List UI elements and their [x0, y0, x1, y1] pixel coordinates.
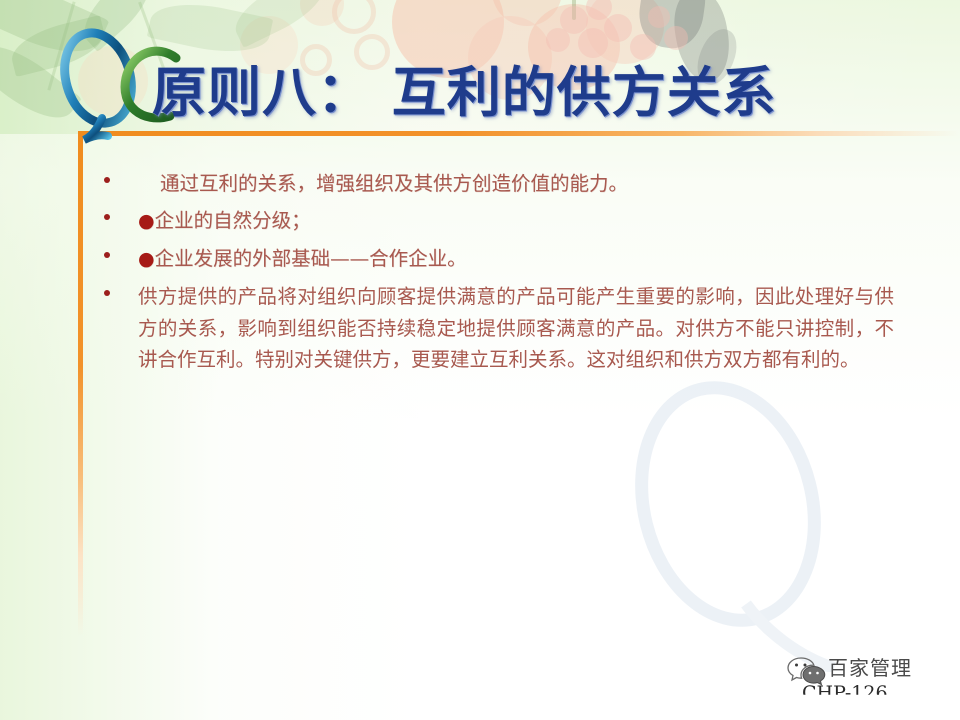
bullet-label: 企业发展的外部基础——合作企业。	[155, 247, 467, 270]
bullet-item: ●企业的自然分级；	[104, 205, 894, 237]
header-divider-rule	[78, 131, 960, 136]
decor-ring	[332, 0, 376, 34]
paragraph-item: 供方提供的产品将对组织向顾客提供满意的产品可能产生重要的影响，因此处理好与供方的…	[104, 281, 894, 376]
bullet-marker-icon	[104, 243, 138, 258]
slide-body: 通过互利的关系，增强组织及其供方创造价值的能力。 ●企业的自然分级； ●企业发展…	[104, 168, 894, 382]
decor-petal	[664, 26, 688, 50]
page-title: 原则八： 互利的供方关系	[152, 48, 777, 127]
bullet-text: ●企业的自然分级；	[138, 205, 894, 237]
left-vertical-rule	[78, 136, 83, 636]
decor-petal	[604, 14, 632, 42]
bullet-label: 企业的自然分级；	[155, 209, 311, 232]
bullet-text: 通过互利的关系，增强组织及其供方创造价值的能力。	[138, 168, 894, 199]
bullet-marker-icon	[104, 168, 138, 183]
page-number: CHP-126	[802, 682, 888, 704]
red-dot-icon: ●	[138, 210, 155, 232]
bullet-item: ●企业发展的外部基础——合作企业。	[104, 243, 894, 275]
footer: 百家管理 CHP-126	[786, 652, 956, 710]
decor-petal	[648, 6, 670, 28]
bullet-marker-icon	[104, 205, 138, 220]
footer-brand-label: 百家管理	[828, 652, 912, 681]
slide-canvas: 原则八： 互利的供方关系 通过互利的关系，增强组织及其供方创造价值的能力。 ●企…	[0, 0, 960, 720]
bullet-marker-icon	[104, 281, 138, 296]
red-dot-icon: ●	[138, 248, 155, 270]
wechat-icon	[786, 654, 828, 686]
bullet-item: 通过互利的关系，增强组织及其供方创造价值的能力。	[104, 168, 894, 199]
paragraph-text: 供方提供的产品将对组织向顾客提供满意的产品可能产生重要的影响，因此处理好与供方的…	[138, 281, 894, 376]
bullet-label: 通过互利的关系，增强组织及其供方创造价值的能力。	[160, 172, 628, 195]
bullet-text: ●企业发展的外部基础——合作企业。	[138, 243, 894, 275]
